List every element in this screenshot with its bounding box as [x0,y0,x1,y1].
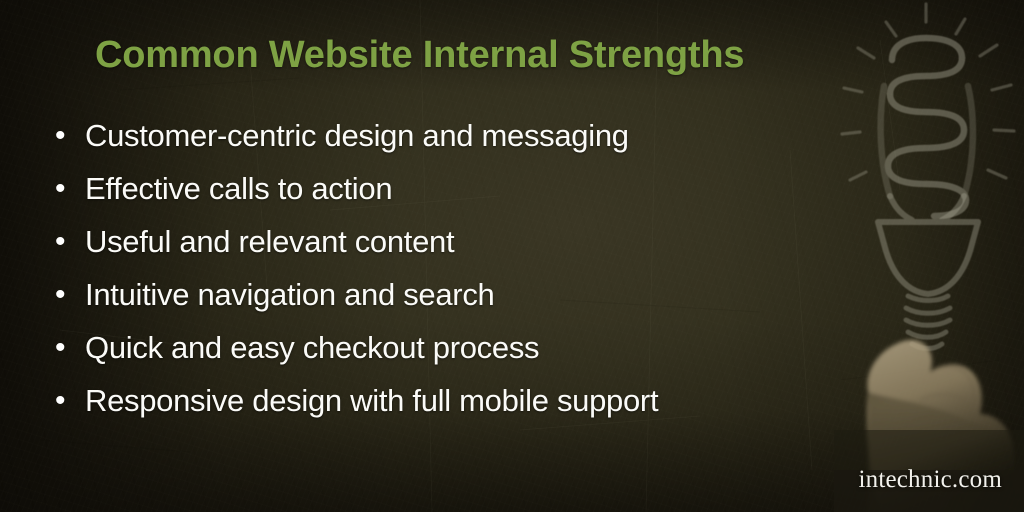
page-title: Common Website Internal Strengths [95,34,744,77]
list-item: • Intuitive navigation and search [55,279,955,332]
list-item-label: Intuitive navigation and search [85,279,955,310]
list-item: • Customer-centric design and messaging [55,120,955,173]
bullet-marker-icon: • [55,333,85,363]
bullet-marker-icon: • [55,386,85,416]
bullet-marker-icon: • [55,280,85,310]
list-item-label: Useful and relevant content [85,226,955,257]
bullet-marker-icon: • [55,227,85,257]
slide-canvas: Common Website Internal Strengths • Cust… [0,0,1024,512]
list-item-label: Customer-centric design and messaging [85,120,955,151]
list-item-label: Effective calls to action [85,173,955,204]
strengths-list: • Customer-centric design and messaging … [55,120,955,438]
list-item-label: Quick and easy checkout process [85,332,955,363]
list-item: • Effective calls to action [55,173,955,226]
list-item: • Quick and easy checkout process [55,332,955,385]
bullet-marker-icon: • [55,174,85,204]
site-attribution: intechnic.com [858,466,1002,494]
list-item: • Responsive design with full mobile sup… [55,385,955,438]
slide-content: Common Website Internal Strengths • Cust… [0,0,1024,512]
bullet-marker-icon: • [55,121,85,151]
list-item: • Useful and relevant content [55,226,955,279]
list-item-label: Responsive design with full mobile suppo… [85,385,955,416]
